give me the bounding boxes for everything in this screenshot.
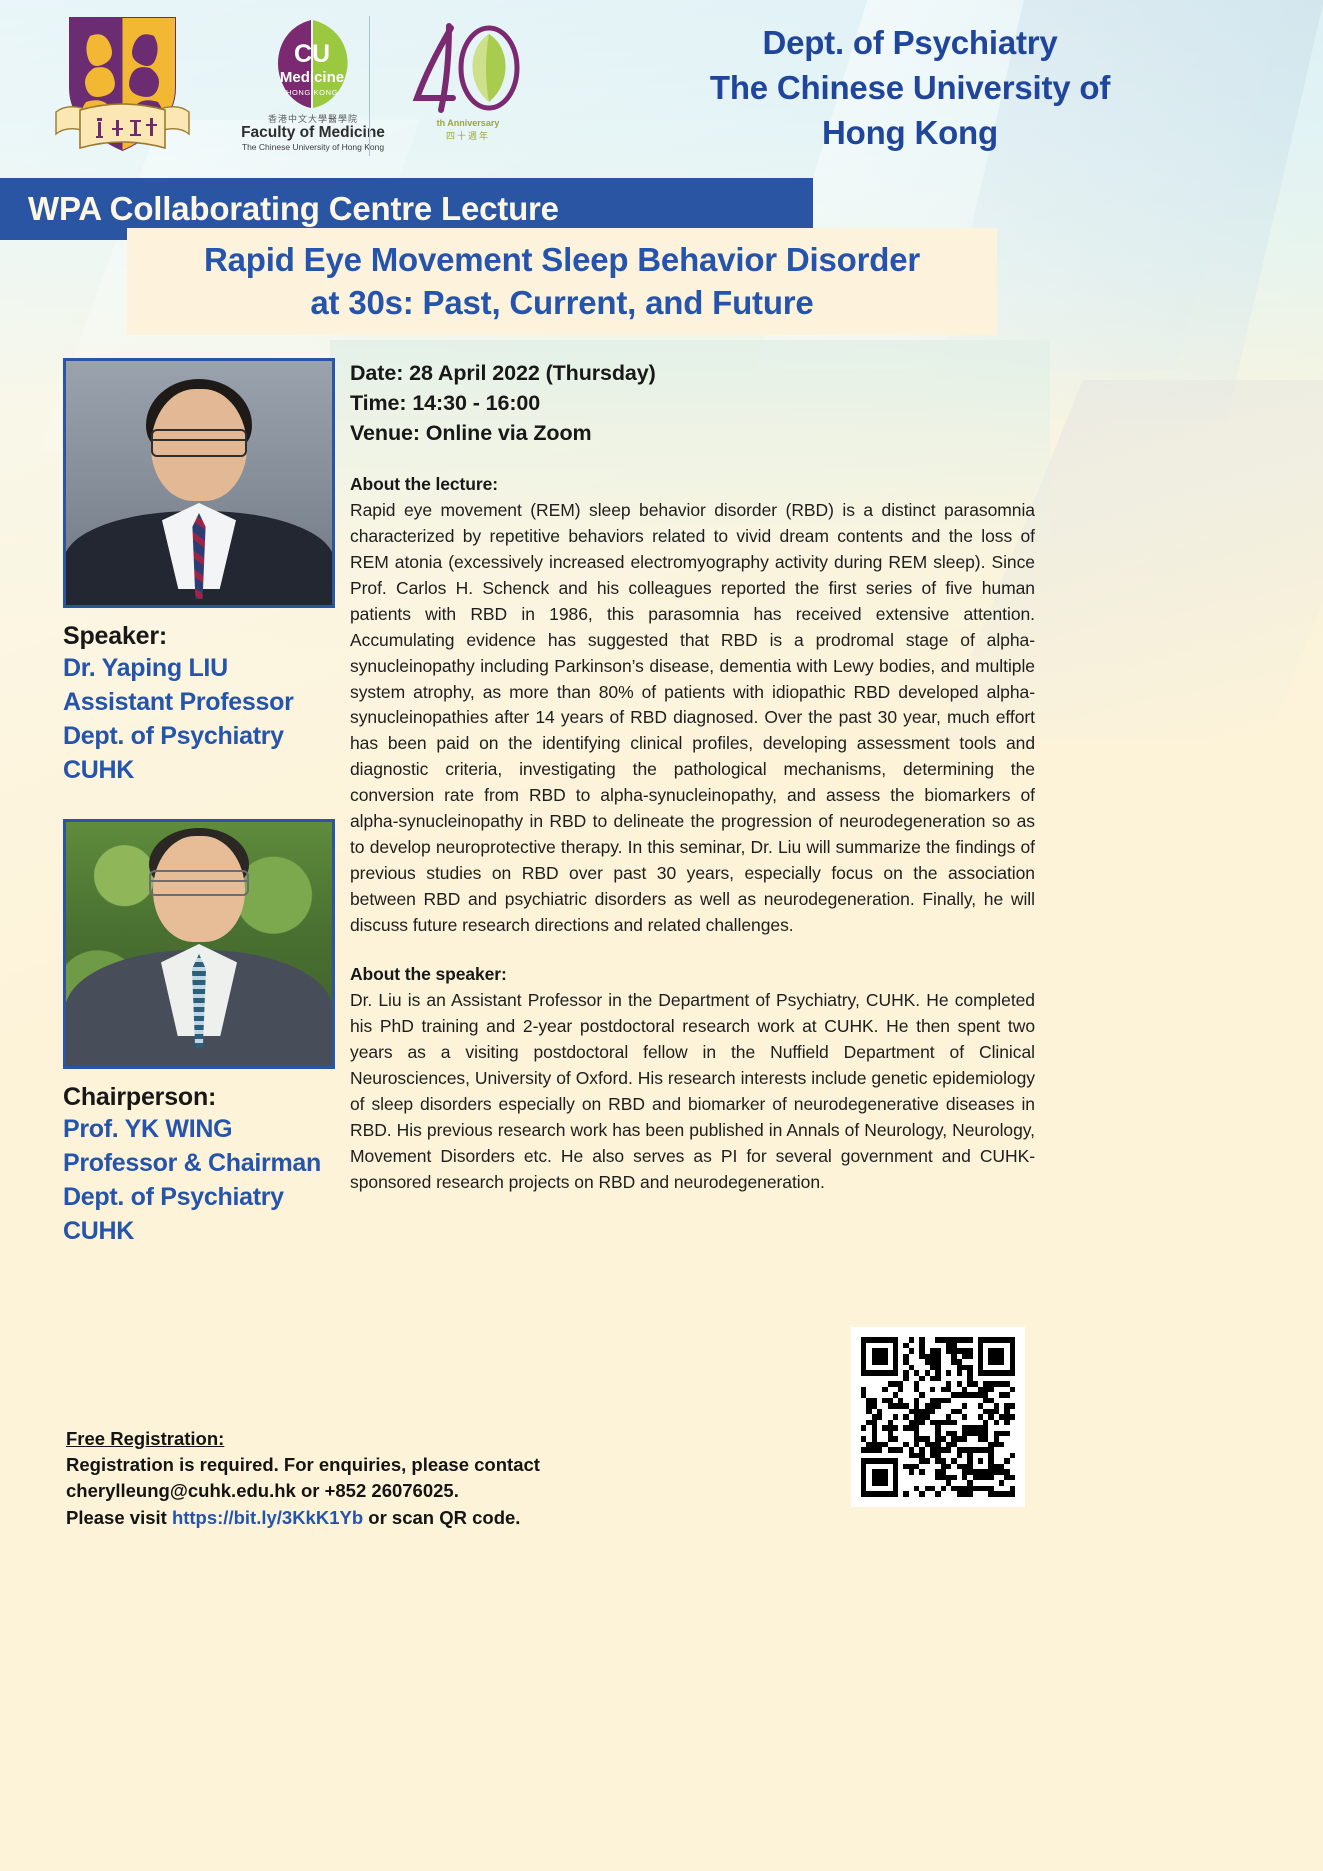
- speaker-title: Assistant Professor: [63, 685, 341, 719]
- registration-line-1: Registration is required. For enquiries,…: [66, 1452, 766, 1478]
- cu-medicine-label-sub: The Chinese University of Hong Kong: [238, 142, 388, 152]
- speaker-institution: CUHK: [63, 753, 341, 787]
- speaker-name: Dr. Yaping LIU: [63, 651, 341, 685]
- about-lecture-heading: About the lecture:: [350, 474, 1035, 495]
- registration-qr-code[interactable]: [851, 1327, 1025, 1507]
- anniversary-caption: th Anniversary: [398, 118, 538, 129]
- event-date: Date: 28 April 2022 (Thursday): [350, 358, 1035, 388]
- registration-line-2: cherylleung@cuhk.edu.hk or +852 26076025…: [66, 1478, 766, 1504]
- anniversary-caption-cn: 四十週年: [398, 129, 538, 142]
- event-venue: Venue: Online via Zoom: [350, 418, 1035, 448]
- speaker-department: Dept. of Psychiatry: [63, 719, 341, 753]
- chairperson-name: Prof. YK WING: [63, 1112, 341, 1146]
- chairperson-photo: [63, 819, 335, 1069]
- lecture-title-line-2: at 30s: Past, Current, and Future: [310, 282, 813, 324]
- about-speaker-heading: About the speaker:: [350, 964, 1035, 985]
- lecture-title-line-1: Rapid Eye Movement Sleep Behavior Disord…: [204, 239, 920, 281]
- registration-heading: Free Registration:: [66, 1428, 766, 1450]
- department-title-line-1: Dept. of Psychiatry: [525, 20, 1295, 65]
- cu-medicine-label-en: Faculty of Medicine: [238, 125, 388, 141]
- chairperson-role-label: Chairperson:: [63, 1083, 341, 1112]
- chairperson-portrait-image: [66, 822, 332, 1066]
- registration-line-3: Please visit https://bit.ly/3KkK1Yb or s…: [66, 1505, 766, 1531]
- qr-code-matrix: [861, 1337, 1015, 1497]
- chairperson-title: Professor & Chairman: [63, 1146, 341, 1180]
- cu-medicine-logo: CU Medicine HONG KONG 香港中文大學醫學院 Faculty …: [238, 18, 388, 153]
- about-speaker-body: Dr. Liu is an Assistant Professor in the…: [350, 988, 1035, 1195]
- svg-text:CU: CU: [294, 40, 330, 68]
- department-title-line-2: The Chinese University of: [525, 65, 1295, 110]
- department-title-line-3: Hong Kong: [525, 110, 1295, 155]
- svg-text:HONG KONG: HONG KONG: [286, 88, 338, 97]
- registration-link[interactable]: https://bit.ly/3KkK1Yb: [172, 1507, 363, 1528]
- cu-medicine-mark-icon: CU Medicine HONG KONG: [253, 18, 373, 110]
- chairperson-institution: CUHK: [63, 1214, 341, 1248]
- people-column: Speaker: Dr. Yaping LIU Assistant Profes…: [63, 358, 341, 1248]
- header-divider: [369, 16, 370, 156]
- registration-footer: Free Registration: Registration is requi…: [66, 1428, 766, 1531]
- department-title: Dept. of Psychiatry The Chinese Universi…: [525, 20, 1295, 156]
- about-lecture-body: Rapid eye movement (REM) sleep behavior …: [350, 498, 1035, 938]
- registration-visit-prefix: Please visit: [66, 1507, 172, 1528]
- event-time: Time: 14:30 - 16:00: [350, 388, 1035, 418]
- details-column: Date: 28 April 2022 (Thursday) Time: 14:…: [350, 358, 1035, 1196]
- speaker-portrait-image: [66, 361, 332, 605]
- registration-visit-suffix: or scan QR code.: [363, 1507, 520, 1528]
- poster-header: CU Medicine HONG KONG 香港中文大學醫學院 Faculty …: [0, 0, 1323, 170]
- cuhk-crest-icon: [50, 10, 195, 158]
- speaker-photo: [63, 358, 335, 608]
- lecture-series-label: WPA Collaborating Centre Lecture: [0, 190, 559, 228]
- chairperson-department: Dept. of Psychiatry: [63, 1180, 341, 1214]
- lecture-poster: CU Medicine HONG KONG 香港中文大學醫學院 Faculty …: [0, 0, 1323, 1871]
- svg-text:Medicine: Medicine: [280, 69, 344, 86]
- anniversary-logo: th Anniversary 四十週年: [398, 22, 538, 152]
- anniversary-40-icon: [403, 22, 533, 118]
- lecture-title-box: Rapid Eye Movement Sleep Behavior Disord…: [127, 228, 997, 335]
- speaker-role-label: Speaker:: [63, 622, 341, 651]
